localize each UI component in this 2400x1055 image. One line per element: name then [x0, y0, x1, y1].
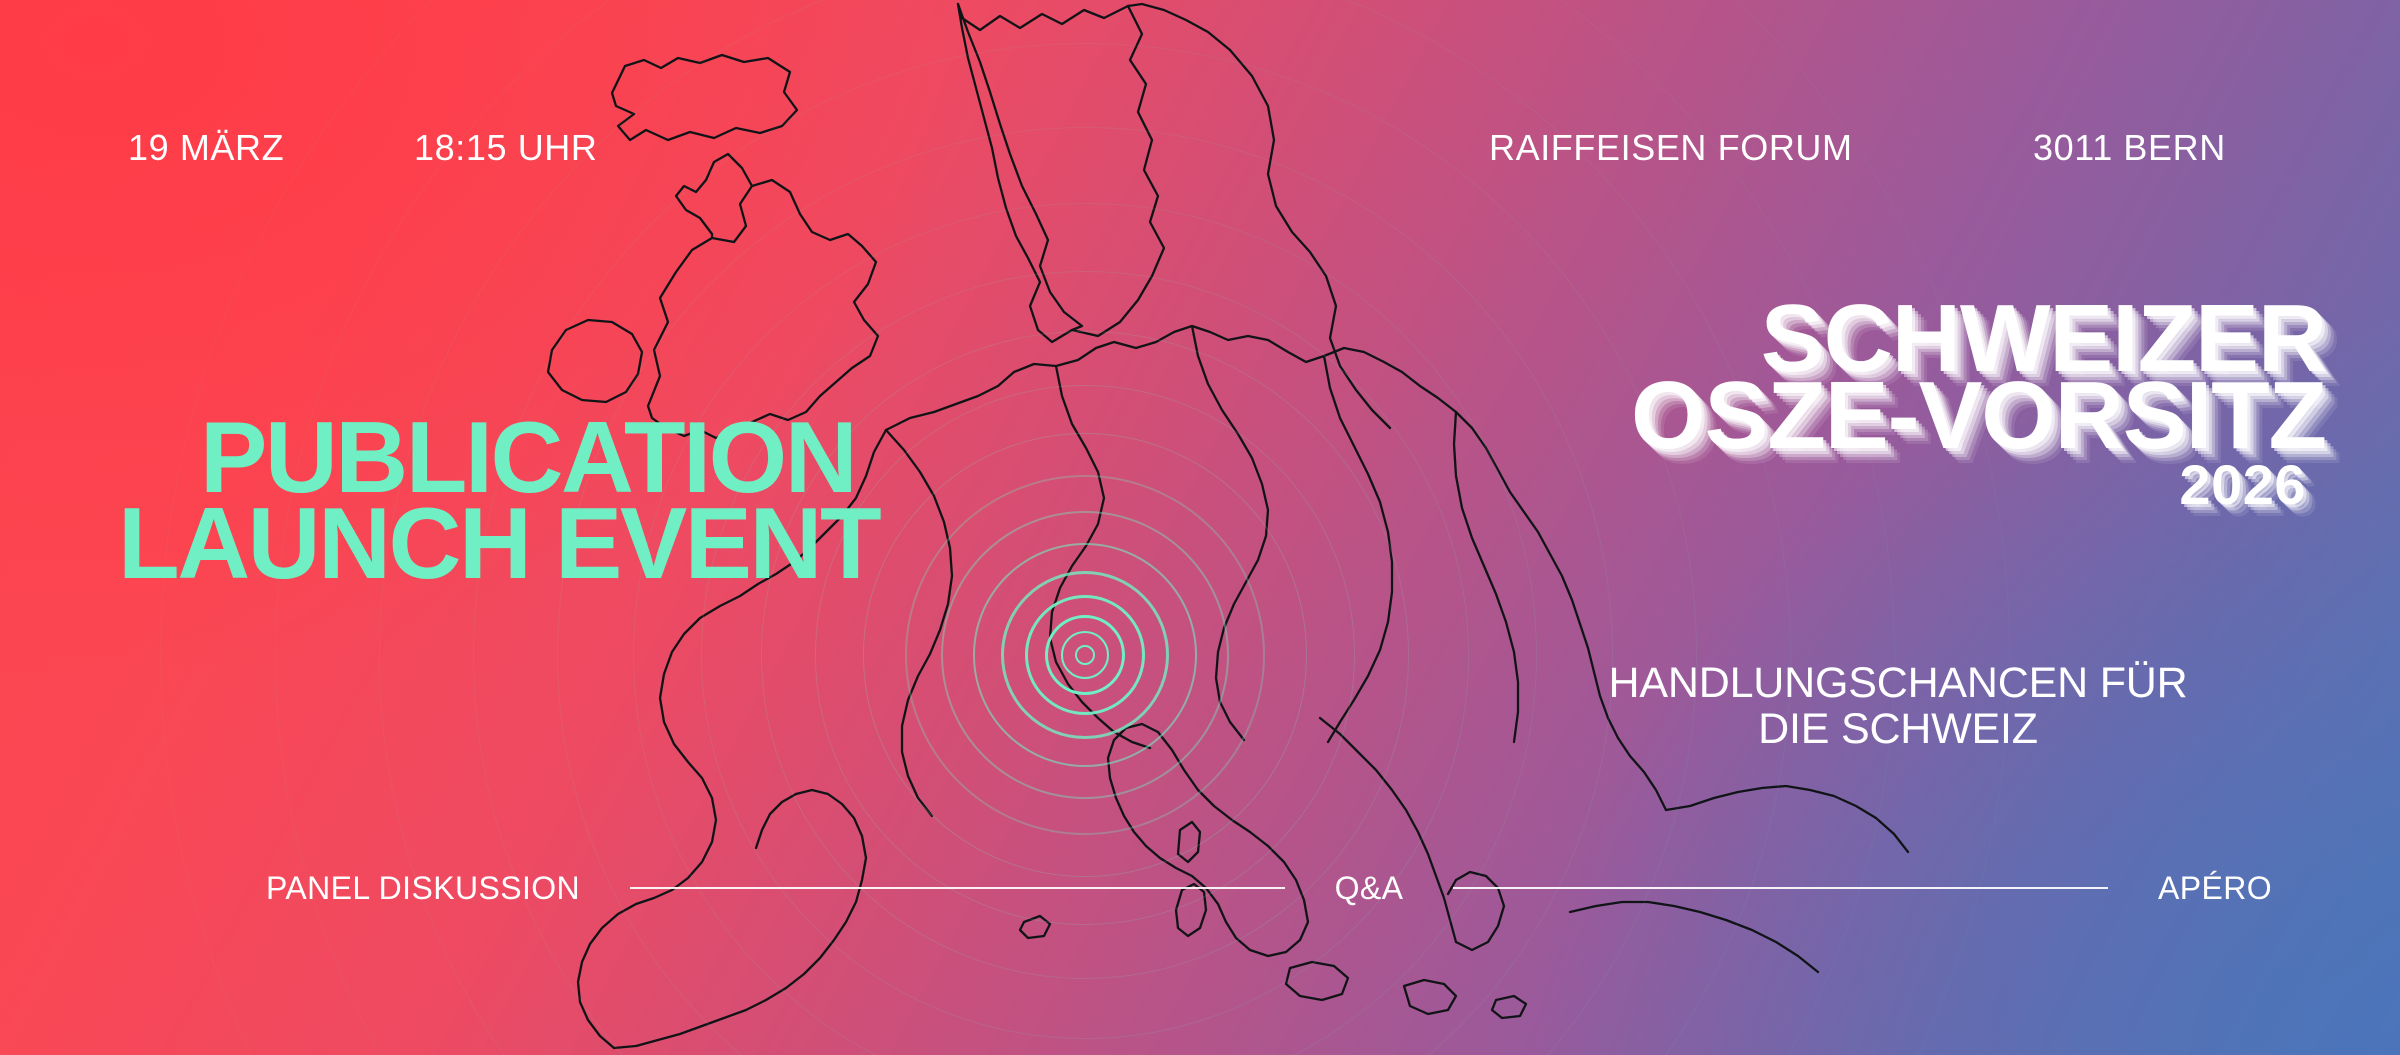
subtitle-line1: HANDLUNGSCHANCEN FÜR	[1518, 660, 2278, 706]
event-banner: 19 MÄRZ 18:15 UHR RAIFFEISEN FORUM 3011 …	[0, 0, 2400, 1055]
event-date: 19 MÄRZ	[128, 130, 284, 166]
hero-title-line2: OSZE-VORSITZ	[1631, 375, 2326, 458]
programme-item-apero: APÉRO	[2158, 872, 2272, 904]
programme-item-qa: Q&A	[1335, 872, 1404, 904]
teal-headline-line2: LAUNCH EVENT	[118, 501, 879, 587]
event-city: 3011 BERN	[2033, 130, 2226, 166]
hero-title: SCHWEIZER OSZE-VORSITZ 2026	[1631, 298, 2326, 509]
event-time: 18:15 UHR	[414, 130, 597, 166]
subtitle-line2: DIE SCHWEIZ	[1518, 706, 2278, 752]
publication-launch-headline: PUBLICATION LAUNCH EVENT	[118, 415, 879, 588]
hero-subtitle: HANDLUNGSCHANCEN FÜR DIE SCHWEIZ	[1518, 660, 2278, 753]
programme-item-panel: PANEL DISKUSSION	[266, 872, 580, 904]
programme-divider-2	[1453, 887, 2108, 889]
programme-divider-1	[630, 887, 1285, 889]
event-venue: RAIFFEISEN FORUM	[1489, 130, 1853, 166]
programme-bar: PANEL DISKUSSION Q&A APÉRO	[266, 872, 2272, 904]
